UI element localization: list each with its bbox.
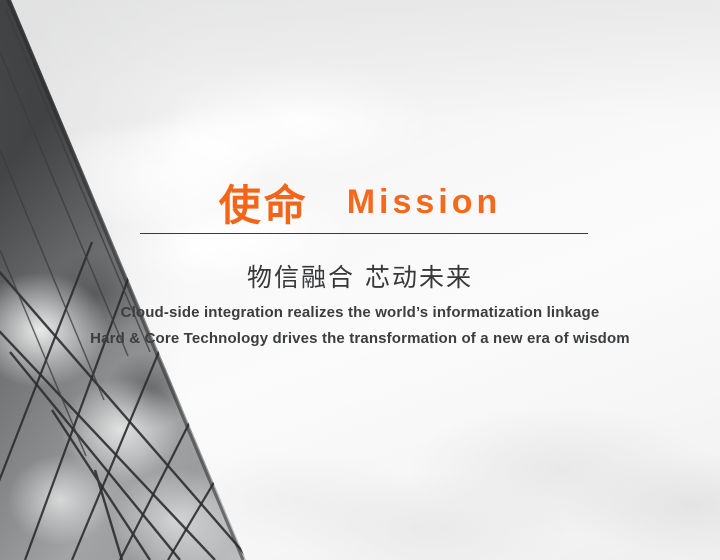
title-divider (140, 233, 588, 234)
hero-tagline-line-1: Cloud-side integration realizes the worl… (0, 304, 720, 321)
hero-title-en: Mission (347, 183, 502, 221)
hero-title-cn: 使命 (219, 181, 309, 230)
hero-title: 使命Mission (0, 172, 720, 233)
mission-hero-banner: 使命Mission 物信融合 芯动未来 Cloud-side integrati… (0, 0, 720, 560)
hero-tagline-line-2: Hard & Core Technology drives the transf… (0, 330, 720, 347)
hero-subtitle-cn: 物信融合 芯动未来 (0, 258, 720, 294)
hero-content: 使命Mission 物信融合 芯动未来 Cloud-side integrati… (0, 0, 720, 560)
